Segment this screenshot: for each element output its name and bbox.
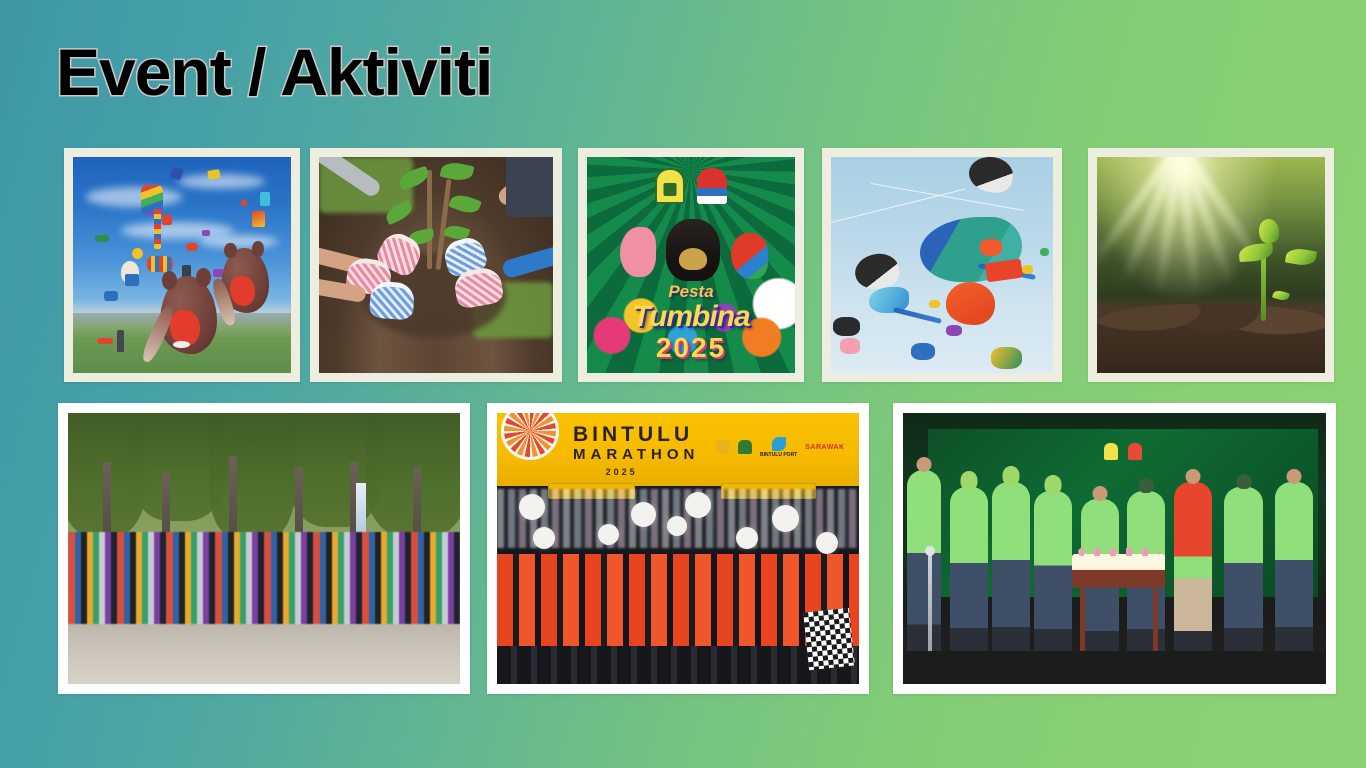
bintulu-port-logo-icon: BINTULU PORT <box>760 437 797 458</box>
poster-line-3: 2025 <box>587 332 795 364</box>
photo-card-seedling[interactable] <box>1088 148 1334 382</box>
marathon-sponsor-logos: BINTULU PORT SARAWAK <box>716 437 845 458</box>
poster-logos <box>587 168 795 204</box>
council-logo-icon <box>697 168 727 204</box>
photo-cake-cutting-ceremony <box>903 413 1326 684</box>
photo-card-cake-ceremony[interactable] <box>893 403 1336 694</box>
photo-park-group-photo <box>68 413 460 684</box>
page-title: Event / Aktiviti <box>56 38 492 107</box>
photo-card-park-group[interactable] <box>58 403 470 694</box>
photo-animal-kites-blue-sky <box>831 157 1053 373</box>
photo-card-pesta-tumbina-poster[interactable]: Pesta Tumbina 2025 <box>578 148 804 382</box>
photo-kite-festival-squirrel-kites <box>73 157 291 373</box>
photo-card-animal-kites[interactable] <box>822 148 1062 382</box>
poster-line-2: Tumbina <box>587 300 795 334</box>
crowd-of-participants <box>68 532 460 624</box>
marathon-year: 2025 <box>606 467 638 477</box>
photo-card-bintulu-marathon[interactable]: BINTULU MARATHON 2025 BINTULU PORT SARAW… <box>487 403 869 694</box>
bda-logo-icon <box>738 440 752 455</box>
photo-pesta-tumbina-2025-poster: Pesta Tumbina 2025 <box>587 157 795 373</box>
photo-seedling-in-soil-sunlight <box>1097 157 1325 373</box>
slide-canvas: Event / Aktiviti <box>0 0 1366 768</box>
sarawak-crest-icon <box>1104 443 1118 460</box>
soil-mound <box>1097 304 1325 373</box>
sarawak-crest-icon <box>655 168 685 204</box>
photo-card-tree-planting[interactable] <box>310 148 562 382</box>
marathon-title: BINTULU <box>573 424 693 445</box>
sarawak-crest-icon <box>716 440 730 455</box>
photo-card-kite-festival[interactable] <box>64 148 300 382</box>
marathon-subtitle: MARATHON <box>573 447 699 462</box>
council-logo-icon <box>1128 443 1142 460</box>
photo-tree-planting-gloved-hands <box>319 157 553 373</box>
checkered-flag <box>803 608 855 670</box>
bintulu-port-wordmark: BINTULU PORT <box>760 452 797 458</box>
sarawak-wordmark: SARAWAK <box>805 444 844 451</box>
photo-bintulu-marathon-2025-start: BINTULU MARATHON 2025 BINTULU PORT SARAW… <box>497 413 859 684</box>
